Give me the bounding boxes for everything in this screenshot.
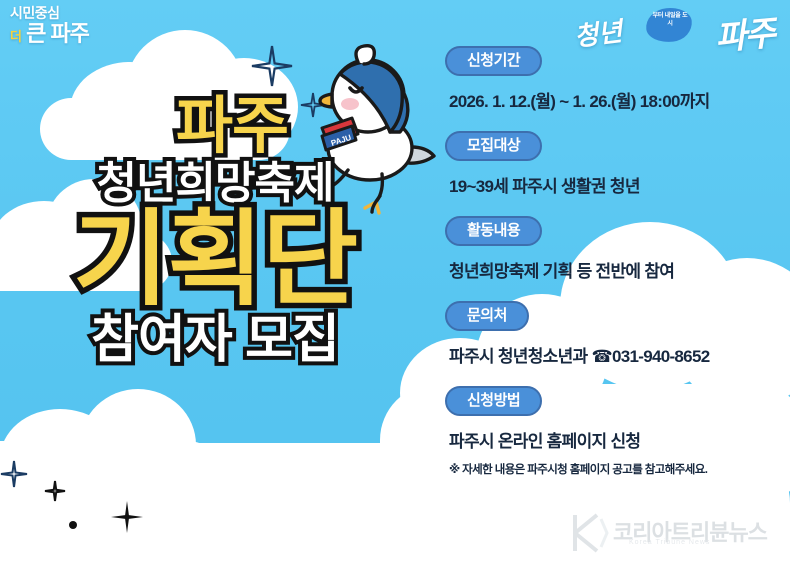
info-block-contact: 문의처 파주시 청년청소년과 ☎031-940-8652 — [445, 301, 780, 367]
info-text-method: 파주시 온라인 홈페이지 신청 — [449, 427, 780, 452]
info-block-method: 신청방법 파주시 온라인 홈페이지 신청 — [445, 386, 780, 452]
brand-logo: 청년 부터 내일을 도시 파주 — [574, 2, 774, 52]
badge-contact: 문의처 — [445, 301, 529, 331]
slogan-main: 큰 파주 — [26, 21, 89, 46]
info-text-activity: 청년희망축제 기획 등 전반에 참여 — [449, 257, 780, 282]
city-slogan: 시민중심 더 큰 파주 — [10, 6, 89, 45]
info-block-activity: 활동내용 청년희망축제 기획 등 전반에 참여 — [445, 216, 780, 282]
badge-method: 신청방법 — [445, 386, 542, 416]
slogan-line-2: 더 큰 파주 — [10, 22, 89, 45]
info-text-target: 19~39세 파주시 생활권 청년 — [449, 172, 780, 197]
slogan-prefix: 더 — [10, 29, 21, 44]
brand-blob-text: 부터 내일을 도시 — [650, 12, 690, 28]
headline-paju: 파주 — [34, 96, 430, 158]
badge-activity: 활동내용 — [445, 216, 542, 246]
info-text-contact: 파주시 청년청소년과 ☎031-940-8652 — [449, 342, 780, 367]
poster-headline: 파주 청년희망축제 기획단 참여자 모집 — [0, 96, 430, 366]
headline-recruit: 참여자 모집 — [0, 314, 430, 366]
info-column: 신청기간 2026. 1. 12.(월) ~ 1. 26.(월) 18:00까지… — [445, 46, 780, 477]
info-block-period: 신청기간 2026. 1. 12.(월) ~ 1. 26.(월) 18:00까지 — [445, 46, 780, 112]
sparkle-icon — [0, 460, 28, 488]
sparkle-icon — [250, 44, 294, 88]
info-text-period: 2026. 1. 12.(월) ~ 1. 26.(월) 18:00까지 — [449, 87, 780, 112]
slogan-line-1: 시민중심 — [10, 6, 89, 21]
footnote: ※ 자세한 내용은 파주시청 홈페이지 공고를 참고해주세요. — [449, 461, 780, 477]
badge-period: 신청기간 — [445, 46, 542, 76]
headline-festival: 청년희망축제 — [0, 162, 430, 206]
cloud-bottom-left — [0, 379, 230, 499]
dot-icon — [68, 520, 78, 530]
info-block-target: 모집대상 19~39세 파주시 생활권 청년 — [445, 131, 780, 197]
poster-canvas: 시민중심 더 큰 파주 청년 부터 내일을 도시 파주 — [0, 0, 790, 561]
badge-target: 모집대상 — [445, 131, 542, 161]
sparkle-icon — [44, 480, 66, 502]
headline-team: 기획단 — [0, 208, 430, 312]
sparkle-icon — [110, 500, 144, 534]
